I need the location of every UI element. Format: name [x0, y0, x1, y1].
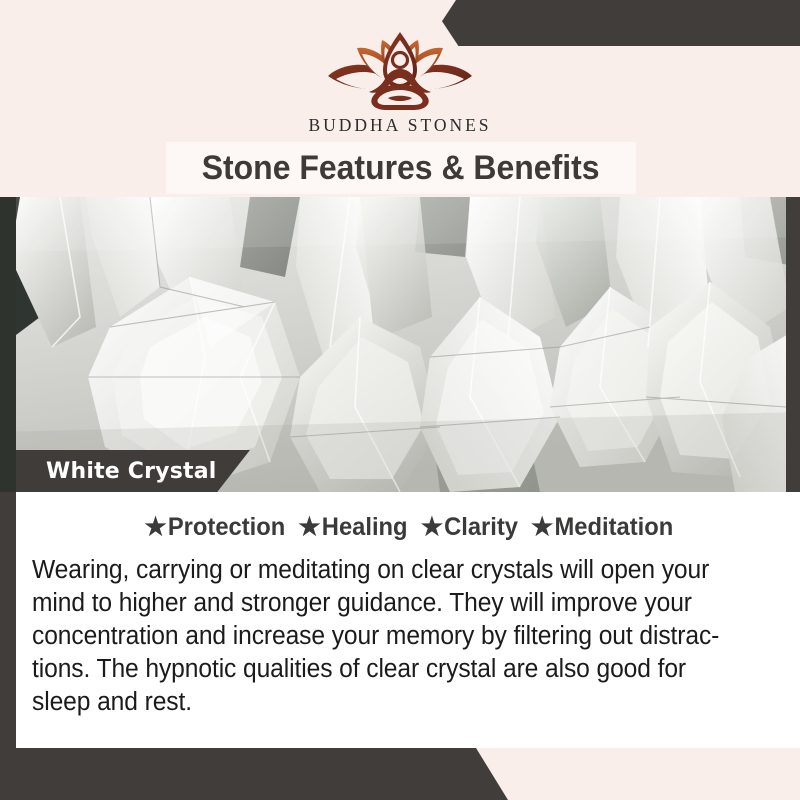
section-title-plate: Stone Features & Benefits — [166, 142, 636, 194]
stone-name-badge: White Crystal — [16, 450, 250, 492]
page-title: Stone Features & Benefits — [202, 149, 600, 188]
hero-image — [0, 197, 800, 492]
star-icon: ★ — [531, 512, 553, 542]
content-card: ★Protection★Healing★Clarity★Meditation W… — [16, 492, 800, 748]
brand-name: BUDDHA STONES — [0, 115, 800, 136]
feature-item-healing: Healing — [322, 513, 408, 541]
feature-item-clarity: Clarity — [444, 513, 518, 541]
star-icon: ★ — [420, 512, 442, 542]
hero-left-shadow-band — [0, 197, 16, 492]
decor-left-edge-bar — [0, 492, 16, 752]
feature-item-protection: Protection — [168, 513, 285, 541]
feature-list: ★Protection★Healing★Clarity★Meditation — [36, 512, 781, 542]
star-icon: ★ — [144, 512, 166, 542]
feature-item-meditation: Meditation — [554, 513, 673, 541]
star-icon: ★ — [298, 512, 320, 542]
decor-bottom-left-wedge — [0, 748, 800, 800]
crystal-cluster-photo — [0, 197, 800, 492]
stone-name-label: White Crystal — [46, 459, 217, 484]
stone-description: Wearing, carrying or meditating on clear… — [32, 554, 746, 719]
infographic-card: BUDDHA STONES — [0, 0, 800, 800]
